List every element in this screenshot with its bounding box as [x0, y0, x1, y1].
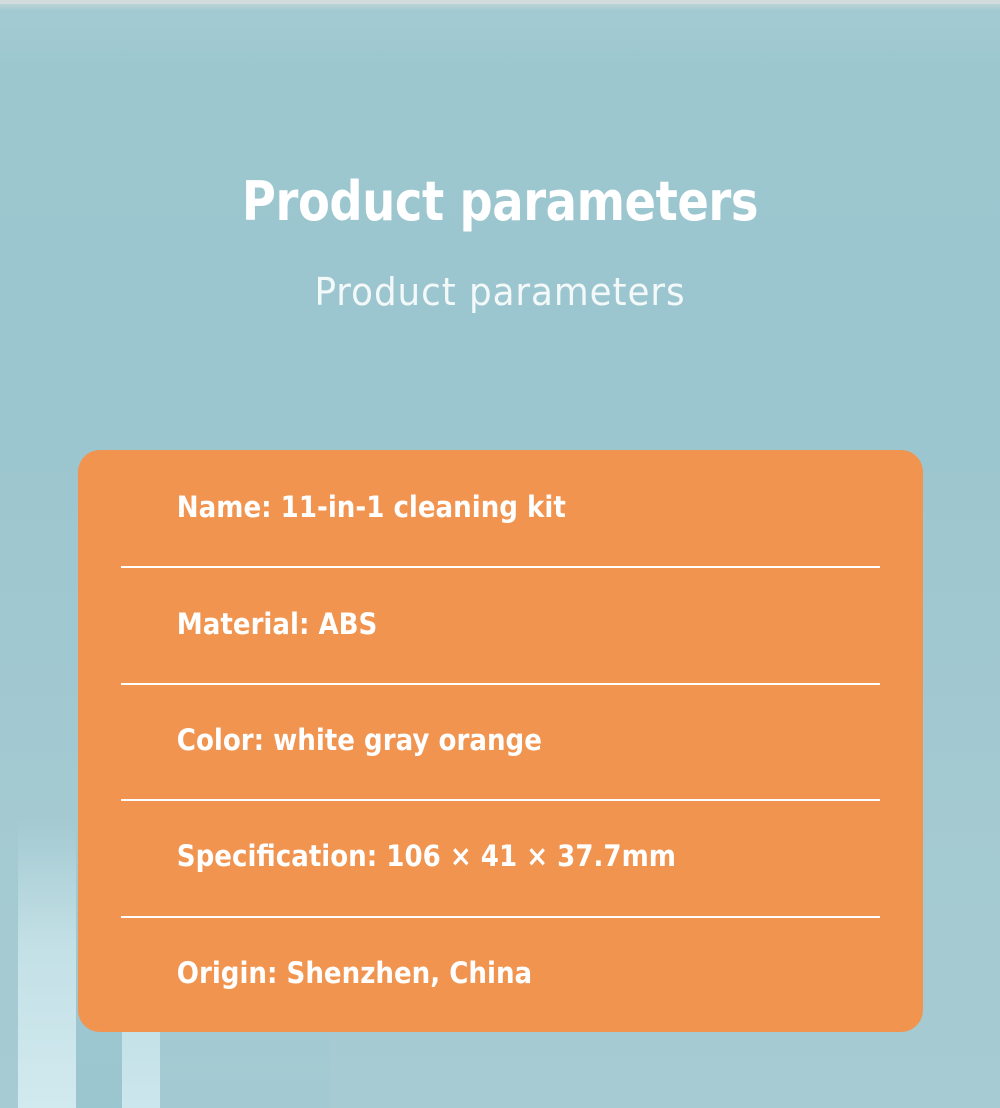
parameter-row-material: Material: ABS: [121, 566, 880, 682]
parameter-row-color: Color: white gray orange: [121, 683, 880, 799]
top-edge-fade: [0, 4, 1000, 12]
parameter-text-color: Color: white gray orange: [121, 725, 542, 757]
page-subtitle: Product parameters: [30, 229, 970, 311]
parameter-row-specification: Specification: 106 × 41 × 37.7mm: [121, 799, 880, 915]
parameter-text-name: Name: 11-in-1 cleaning kit: [121, 492, 566, 524]
page-heading: Product parameters Product parameters: [0, 175, 1000, 311]
parameter-text-specification: Specification: 106 × 41 × 37.7mm: [121, 841, 676, 873]
page-title: Product parameters: [70, 175, 930, 229]
parameter-text-origin: Origin: Shenzhen, China: [121, 958, 532, 990]
parameters-card: Name: 11-in-1 cleaning kit Material: ABS…: [78, 450, 923, 1032]
parameters-list: Name: 11-in-1 cleaning kit Material: ABS…: [121, 450, 880, 1032]
product-parameters-page: Product parameters Product parameters Na…: [0, 0, 1000, 1108]
parameter-text-material: Material: ABS: [121, 609, 377, 641]
parameter-row-name: Name: 11-in-1 cleaning kit: [121, 450, 880, 566]
parameter-row-origin: Origin: Shenzhen, China: [121, 916, 880, 1032]
